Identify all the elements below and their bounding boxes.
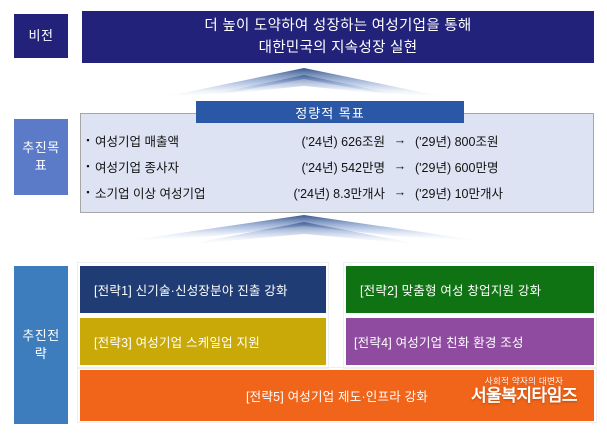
vision-label-text: 비전	[29, 27, 54, 45]
bullet-icon: ▪	[81, 188, 95, 197]
bullet-icon: ▪	[81, 136, 95, 145]
arrow-right-icon: →	[385, 159, 415, 173]
goal-row: ▪ 여성기업 종사자 ('24년) 542만명 → ('29년) 600만명	[81, 154, 593, 178]
strategy-label-text-line-1: 추진전	[22, 327, 59, 345]
strategy-box-3[interactable]: [전략3] 여성기업 스케일업 지원	[80, 318, 326, 365]
quantitative-goals-header-text: 정량적 목표	[295, 103, 364, 122]
goals-section-label: 추진목 표	[14, 119, 68, 195]
goal-baseline-value: ('24년) 542만명	[263, 157, 385, 176]
quantitative-goals-panel: ▪ 여성기업 매출액 ('24년) 626조원 → ('29년) 800조원 ▪…	[80, 113, 594, 213]
goal-row: ▪ 여성기업 매출액 ('24년) 626조원 → ('29년) 800조원	[81, 128, 593, 152]
strategy-label-text-line-2: 략	[35, 345, 47, 363]
strategy-box-5-label: [전략5] 여성기업 제도·인프라 강화	[246, 386, 428, 405]
goal-name: 소기업 이상 여성기업	[95, 183, 263, 202]
goal-baseline-value: ('24년) 626조원	[263, 131, 385, 150]
goal-target-value: ('29년) 600만명	[415, 157, 593, 176]
strategy-box-2[interactable]: [전략2] 맞춤형 여성 창업지원 강화	[346, 266, 594, 313]
vision-statement-banner: 더 높이 도약하여 성장하는 여성기업을 통해 대한민국의 지속성장 실현	[82, 11, 594, 63]
strategy-box-5[interactable]: [전략5] 여성기업 제도·인프라 강화	[80, 370, 594, 421]
strategy-boxes-container: [전략1] 신기술·신성장분야 진출 강화 [전략2] 맞춤형 여성 창업지원 …	[80, 262, 594, 426]
strategy-box-1-label: [전략1] 신기술·신성장분야 진출 강화	[94, 280, 288, 299]
quantitative-goals-header: 정량적 목표	[196, 101, 464, 123]
strategy-box-1[interactable]: [전략1] 신기술·신성장분야 진출 강화	[80, 266, 326, 313]
vision-statement-line-2: 대한민국의 지속성장 실현	[259, 37, 418, 59]
strategy-box-3-label: [전략3] 여성기업 스케일업 지원	[94, 332, 260, 351]
goal-baseline-value: ('24년) 8.3만개사	[263, 183, 385, 202]
chevron-down-icon-vision-to-goals	[154, 66, 454, 104]
strategy-box-4-label: [전략4] 여성기업 친화 환경 조성	[354, 332, 524, 351]
bullet-icon: ▪	[81, 162, 95, 171]
goal-row: ▪ 소기업 이상 여성기업 ('24년) 8.3만개사 → ('29년) 10만…	[81, 180, 593, 204]
goal-name: 여성기업 종사자	[95, 157, 263, 176]
goals-label-text-line-1: 추진목	[22, 139, 59, 157]
goal-target-value: ('29년) 10만개사	[415, 183, 593, 202]
vision-section-label: 비전	[14, 14, 68, 58]
goal-name: 여성기업 매출액	[95, 131, 263, 150]
arrow-right-icon: →	[385, 133, 415, 147]
arrow-right-icon: →	[385, 185, 415, 199]
strategy-box-2-label: [전략2] 맞춤형 여성 창업지원 강화	[360, 280, 541, 299]
strategy-box-4[interactable]: [전략4] 여성기업 친화 환경 조성	[346, 318, 594, 365]
strategy-section-label: 추진전 략	[14, 266, 68, 424]
chevron-down-icon-goals-to-strategy	[114, 212, 494, 256]
vision-statement-line-1: 더 높이 도약하여 성장하는 여성기업을 통해	[204, 15, 471, 37]
goal-target-value: ('29년) 800조원	[415, 131, 593, 150]
goals-label-text-line-2: 표	[35, 157, 47, 175]
